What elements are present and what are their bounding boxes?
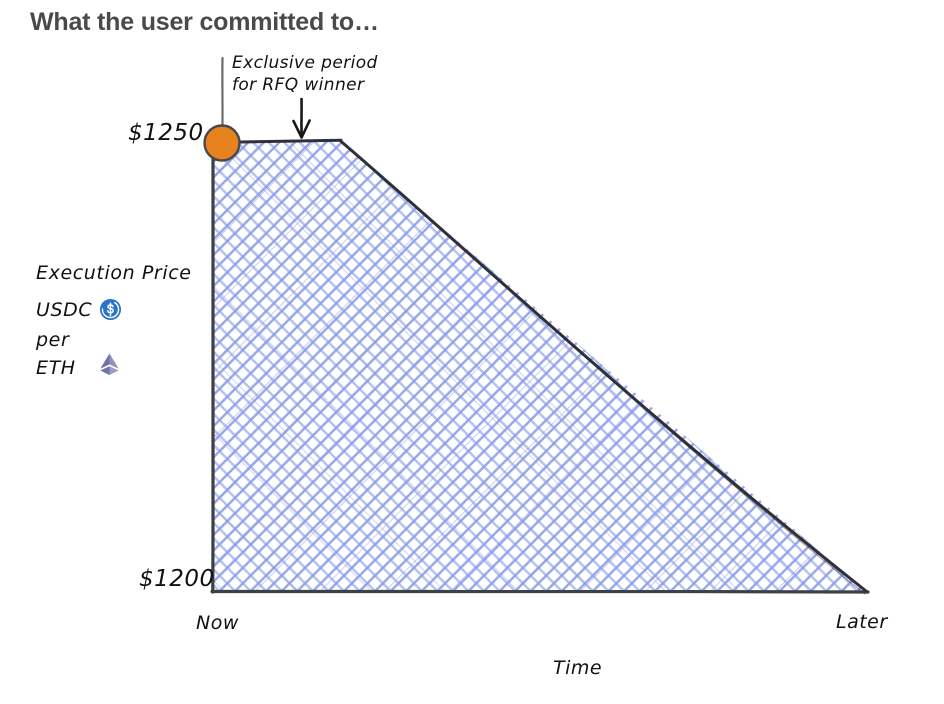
annotation-line-1: Exclusive period (232, 52, 378, 74)
y-axis-denominator-row: ETH (36, 353, 216, 383)
y-axis-numerator-row: USDC (36, 298, 216, 321)
area-fill (205, 130, 875, 600)
y-tick-label-bottom: $1200 (139, 566, 215, 592)
usdc-coin-icon (99, 298, 122, 321)
y-axis-per-label: per (36, 329, 69, 351)
y-axis-per-row: per (36, 329, 216, 351)
y-axis-title: Execution Price (36, 262, 216, 284)
y-axis-title-block: Execution Price USDC per ETH (36, 262, 216, 383)
x-axis-title: Time (553, 657, 602, 679)
x-tick-label-later: Later (836, 611, 888, 633)
start-price-marker[interactable] (205, 126, 240, 161)
eth-diamond-icon (97, 353, 122, 383)
annotation-line-2: for RFQ winner (232, 74, 378, 96)
annotation-exclusive-period: Exclusive period for RFQ winner (232, 52, 378, 96)
y-axis-numerator-label: USDC (36, 299, 92, 321)
y-tick-label-top: $1250 (128, 120, 204, 146)
x-tick-label-now: Now (196, 612, 239, 634)
arrow-down-icon (294, 99, 310, 138)
y-axis-denominator-label: ETH (36, 357, 76, 379)
